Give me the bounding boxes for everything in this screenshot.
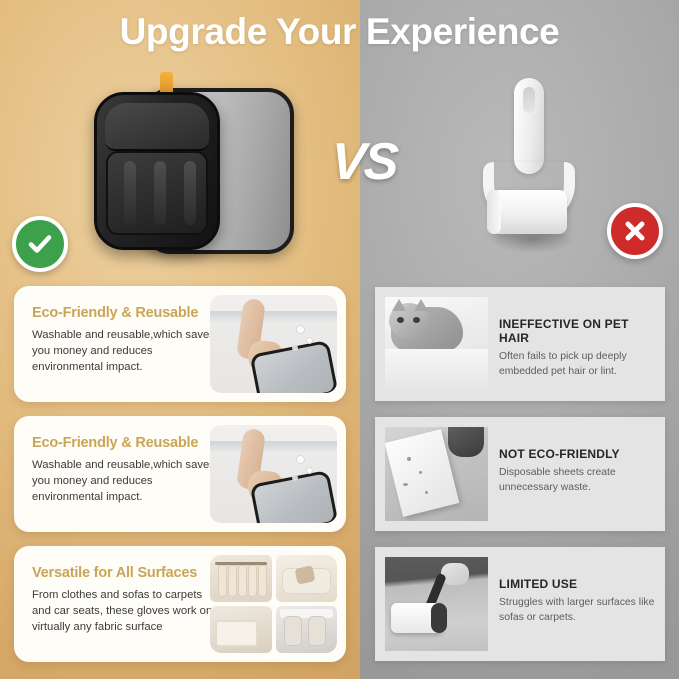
pro-card: Eco-Friendly & Reusable Washable and reu… bbox=[14, 286, 346, 402]
lint-fleck bbox=[425, 491, 428, 494]
hand-washing-glove-photo bbox=[210, 295, 337, 393]
glove-rib bbox=[154, 161, 166, 225]
pro-card-text: Eco-Friendly & Reusable Washable and reu… bbox=[32, 305, 222, 375]
waterline bbox=[210, 311, 337, 324]
roller-on-carpet-photo bbox=[385, 557, 488, 651]
blanket bbox=[385, 349, 488, 391]
product-glove-image bbox=[88, 72, 293, 262]
garment bbox=[228, 565, 237, 597]
con-card-image bbox=[385, 557, 488, 651]
bubble bbox=[306, 337, 313, 344]
con-card-heading: LIMITED USE bbox=[499, 577, 657, 591]
glove-front-panel bbox=[94, 92, 220, 250]
bubble bbox=[296, 325, 305, 334]
cat-ear bbox=[392, 299, 406, 311]
con-card-image bbox=[385, 297, 488, 391]
roller-handle-hole bbox=[523, 87, 535, 113]
pro-card-image bbox=[210, 295, 337, 393]
car-seat bbox=[284, 616, 302, 646]
pro-card-body: Washable and reusable,which saves you mo… bbox=[32, 457, 222, 505]
con-card: LIMITED USE Struggles with larger surfac… bbox=[375, 547, 665, 661]
con-card-body: Struggles with larger surfaces like sofa… bbox=[499, 596, 657, 625]
page-title: Upgrade Your Experience bbox=[0, 11, 679, 53]
lint-fleck bbox=[403, 483, 408, 486]
car-seat bbox=[308, 616, 326, 646]
pro-card-body: Washable and reusable,which saves you mo… bbox=[32, 327, 222, 375]
lint-fleck bbox=[407, 457, 411, 461]
pro-card-image bbox=[210, 425, 337, 523]
collage-carpet bbox=[210, 606, 272, 653]
waterline bbox=[210, 441, 337, 454]
pro-card-heading: Eco-Friendly & Reusable bbox=[32, 305, 222, 321]
glove-rib bbox=[184, 161, 196, 225]
collage-clothes-rack bbox=[210, 555, 272, 602]
pro-card-heading: Versatile for All Surfaces bbox=[32, 565, 222, 581]
used-lint-sheet-photo bbox=[385, 427, 488, 521]
con-card-text: LIMITED USE Struggles with larger surfac… bbox=[499, 577, 657, 625]
cons-column: INEFFECTIVE ON PET HAIR Often fails to p… bbox=[360, 278, 679, 679]
cat-eye bbox=[397, 317, 404, 323]
rug bbox=[215, 620, 258, 647]
con-card: INEFFECTIVE ON PET HAIR Often fails to p… bbox=[375, 287, 665, 401]
surface-collage bbox=[210, 555, 337, 653]
pros-column: Eco-Friendly & Reusable Washable and reu… bbox=[0, 278, 360, 679]
garment bbox=[218, 565, 227, 597]
bubble bbox=[292, 345, 298, 351]
bubble bbox=[306, 467, 313, 474]
con-card-heading: INEFFECTIVE ON PET HAIR bbox=[499, 317, 657, 345]
hero-section: Upgrade Your Experience bbox=[0, 0, 679, 272]
garment bbox=[238, 565, 247, 597]
hand-washing-glove-photo bbox=[210, 425, 337, 523]
pro-card-image-collage bbox=[210, 555, 337, 653]
lint-fleck bbox=[419, 471, 422, 474]
vs-emblem: VS bbox=[316, 127, 412, 197]
con-card-text: INEFFECTIVE ON PET HAIR Often fails to p… bbox=[499, 317, 657, 379]
product-lint-roller-image bbox=[465, 78, 595, 258]
fingers bbox=[448, 427, 484, 457]
pro-card: Versatile for All Surfaces From clothes … bbox=[14, 546, 346, 662]
check-mark-icon bbox=[12, 216, 68, 272]
garment bbox=[258, 565, 267, 597]
con-card-body: Disposable sheets create unnecessary was… bbox=[499, 466, 657, 495]
roller-drum bbox=[491, 190, 567, 234]
roller-drum-end bbox=[431, 603, 447, 633]
pro-card-text: Eco-Friendly & Reusable Washable and reu… bbox=[32, 435, 222, 505]
con-card-image bbox=[385, 427, 488, 521]
bubble bbox=[296, 455, 305, 464]
pro-card-text: Versatile for All Surfaces From clothes … bbox=[32, 565, 222, 635]
con-card-body: Often fails to pick up deeply embedded p… bbox=[499, 350, 657, 379]
roller-drum-end bbox=[487, 190, 501, 234]
comparison-infographic: Upgrade Your Experience bbox=[0, 0, 679, 679]
con-card: NOT ECO-FRIENDLY Disposable sheets creat… bbox=[375, 417, 665, 531]
cat-on-blanket-photo bbox=[385, 297, 488, 391]
bubble bbox=[292, 475, 298, 481]
pro-card-heading: Eco-Friendly & Reusable bbox=[32, 435, 222, 451]
glove-pocket bbox=[106, 151, 208, 235]
pro-card: Eco-Friendly & Reusable Washable and reu… bbox=[14, 416, 346, 532]
cat-eye bbox=[413, 317, 420, 323]
con-card-text: NOT ECO-FRIENDLY Disposable sheets creat… bbox=[499, 447, 657, 495]
collage-sofa bbox=[276, 555, 338, 602]
collage-car-seats bbox=[276, 606, 338, 653]
cross-mark-icon bbox=[607, 203, 663, 259]
glove-rib bbox=[124, 161, 136, 225]
con-card-heading: NOT ECO-FRIENDLY bbox=[499, 447, 657, 461]
glove-flap bbox=[105, 103, 209, 151]
cat-ear bbox=[414, 299, 428, 311]
garment bbox=[248, 565, 257, 597]
pro-card-body: From clothes and sofas to carpets and ca… bbox=[32, 587, 222, 635]
hand bbox=[441, 563, 469, 585]
